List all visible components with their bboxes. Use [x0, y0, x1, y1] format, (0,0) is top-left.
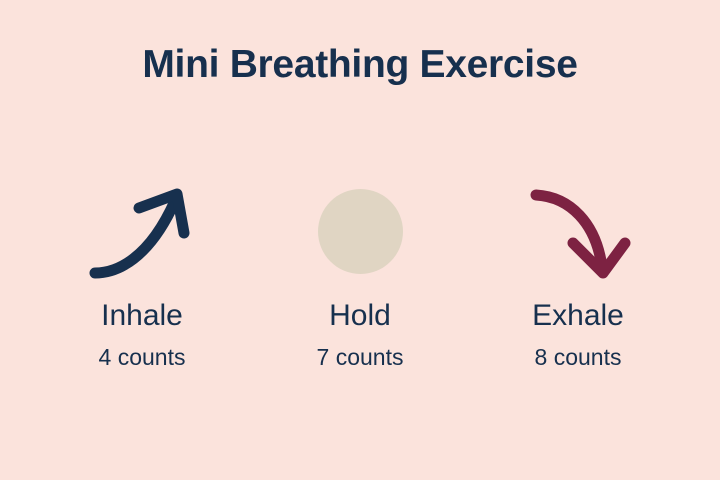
breathing-exercise-card: Mini Breathing Exercise Inhale 4 counts …: [0, 0, 720, 480]
exhale-visual: [508, 175, 648, 287]
step-label-hold: Hold: [329, 301, 391, 331]
hold-visual: [290, 175, 430, 287]
curved-arrow-down-right-icon: [528, 181, 628, 281]
curved-arrow-up-right-icon: [87, 181, 197, 281]
step-count-exhale: 8 counts: [535, 346, 622, 369]
page-title: Mini Breathing Exercise: [0, 44, 720, 87]
step-count-hold: 7 counts: [317, 346, 404, 369]
inhale-visual: [72, 175, 212, 287]
step-hold: Hold 7 counts: [251, 175, 469, 369]
step-exhale: Exhale 8 counts: [469, 175, 687, 369]
step-label-exhale: Exhale: [532, 301, 624, 331]
step-inhale: Inhale 4 counts: [33, 175, 251, 369]
step-count-inhale: 4 counts: [99, 346, 186, 369]
step-label-inhale: Inhale: [101, 301, 183, 331]
filled-circle-icon: [318, 189, 403, 274]
breathing-steps-row: Inhale 4 counts Hold 7 counts Exhale 8 c…: [0, 175, 720, 369]
